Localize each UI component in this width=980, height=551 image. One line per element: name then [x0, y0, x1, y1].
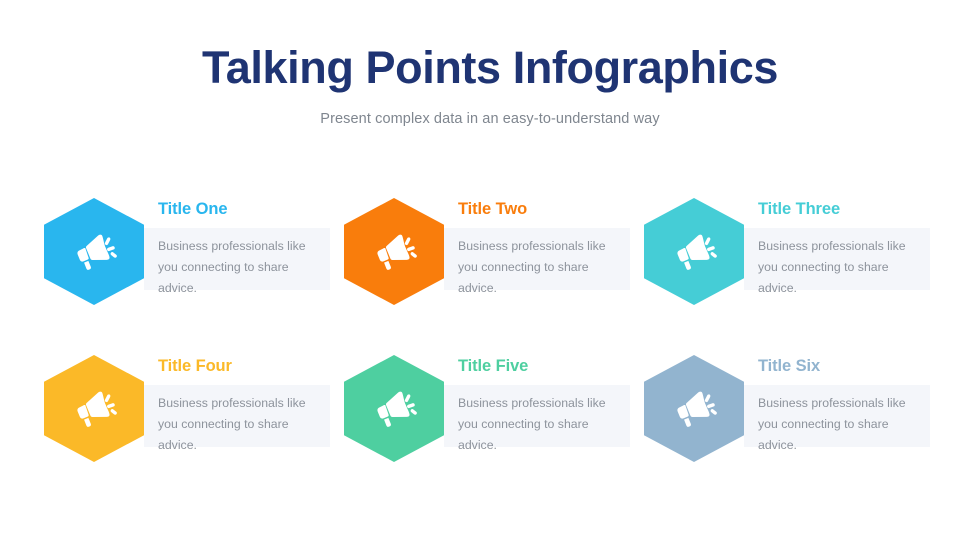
item-description: Business professionals like you connecti… — [758, 236, 928, 299]
hexagon-badge — [44, 198, 144, 305]
hexagon-badge — [344, 198, 444, 305]
item-title: Title Five — [458, 357, 528, 376]
hexagon-badge — [644, 355, 744, 462]
infographic-item[interactable]: Title One Business professionals like yo… — [44, 198, 330, 305]
megaphone-icon — [670, 227, 720, 277]
hexagon-badge — [344, 355, 444, 462]
item-title: Title Three — [758, 200, 840, 219]
infographic-slide: Talking Points Infographics Present comp… — [0, 0, 980, 551]
megaphone-icon — [370, 384, 420, 434]
infographic-item[interactable]: Title Four Business professionals like y… — [44, 355, 330, 462]
infographic-item[interactable]: Title Two Business professionals like yo… — [344, 198, 630, 305]
item-title: Title Two — [458, 200, 527, 219]
item-description: Business professionals like you connecti… — [758, 393, 928, 456]
item-title: Title One — [158, 200, 227, 219]
item-description: Business professionals like you connecti… — [458, 393, 628, 456]
infographic-item[interactable]: Title Six Business professionals like yo… — [644, 355, 930, 462]
megaphone-icon — [670, 384, 720, 434]
megaphone-icon — [70, 384, 120, 434]
item-title: Title Six — [758, 357, 820, 376]
item-description: Business professionals like you connecti… — [158, 393, 328, 456]
infographic-item[interactable]: Title Three Business professionals like … — [644, 198, 930, 305]
item-title: Title Four — [158, 357, 232, 376]
item-description: Business professionals like you connecti… — [158, 236, 328, 299]
megaphone-icon — [70, 227, 120, 277]
hexagon-badge — [644, 198, 744, 305]
infographic-item[interactable]: Title Five Business professionals like y… — [344, 355, 630, 462]
item-description: Business professionals like you connecti… — [458, 236, 628, 299]
items-grid: Title One Business professionals like yo… — [0, 0, 980, 551]
hexagon-badge — [44, 355, 144, 462]
megaphone-icon — [370, 227, 420, 277]
